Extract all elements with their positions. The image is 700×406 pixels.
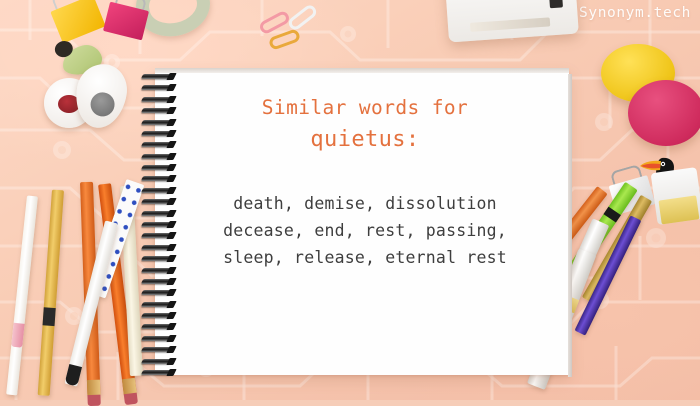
spiral-coil: [141, 211, 173, 216]
camera-grip: [470, 17, 550, 32]
card-headline: Similar words for: [180, 95, 550, 121]
spiral-coil: [141, 154, 173, 159]
synonym-line: death, demise, dissolution: [180, 191, 550, 218]
pencil-ferrule: [87, 380, 101, 396]
spiral-coil: [141, 188, 173, 193]
spiral-coil: [141, 85, 173, 90]
pencil-ferrule: [122, 378, 137, 395]
spiral-coil: [141, 222, 173, 227]
pencil-tip: [43, 307, 56, 326]
spiral-coil: [141, 233, 173, 238]
synonym-line: sleep, release, eternal rest: [180, 245, 550, 272]
camera-shutter-button: [549, 0, 563, 8]
card-keyword: quietus:: [180, 127, 550, 152]
watermark-logo: Synonym.tech: [579, 5, 691, 21]
spiral-coil: [141, 131, 173, 136]
spiral-coil: [141, 324, 173, 329]
spiral-coil: [141, 120, 173, 125]
spiral-coil: [141, 176, 173, 181]
spiral-coil: [141, 290, 173, 295]
spiral-coil: [141, 142, 173, 147]
spiral-coil: [141, 97, 173, 102]
spiral-coil: [141, 108, 173, 113]
spiral-coil: [141, 347, 173, 352]
spiral-coil: [141, 359, 173, 364]
spiral-coil: [141, 370, 173, 375]
spiral-coil: [141, 279, 173, 284]
synonym-list: death, demise, dissolution decease, end,…: [180, 191, 550, 271]
egg-eraser-grey-center: [89, 90, 117, 118]
spiral-coil: [141, 199, 173, 204]
spiral-coil: [141, 268, 173, 273]
spiral-coil: [141, 245, 173, 250]
spiral-coil: [141, 74, 173, 79]
spiral-coil: [141, 313, 173, 318]
notepad-top-edge: [155, 68, 569, 73]
synonym-line: decease, end, rest, passing,: [180, 218, 550, 245]
spiral-coil: [141, 302, 173, 307]
spiral-coil: [141, 336, 173, 341]
spiral-coil: [141, 165, 173, 170]
spiral-coil: [141, 256, 173, 261]
synonym-card-text: Similar words for quietus: death, demise…: [180, 95, 550, 271]
notepad-spiral-binding: [142, 70, 178, 378]
glue-stick: [651, 167, 700, 225]
macaron-pink: [628, 80, 700, 146]
